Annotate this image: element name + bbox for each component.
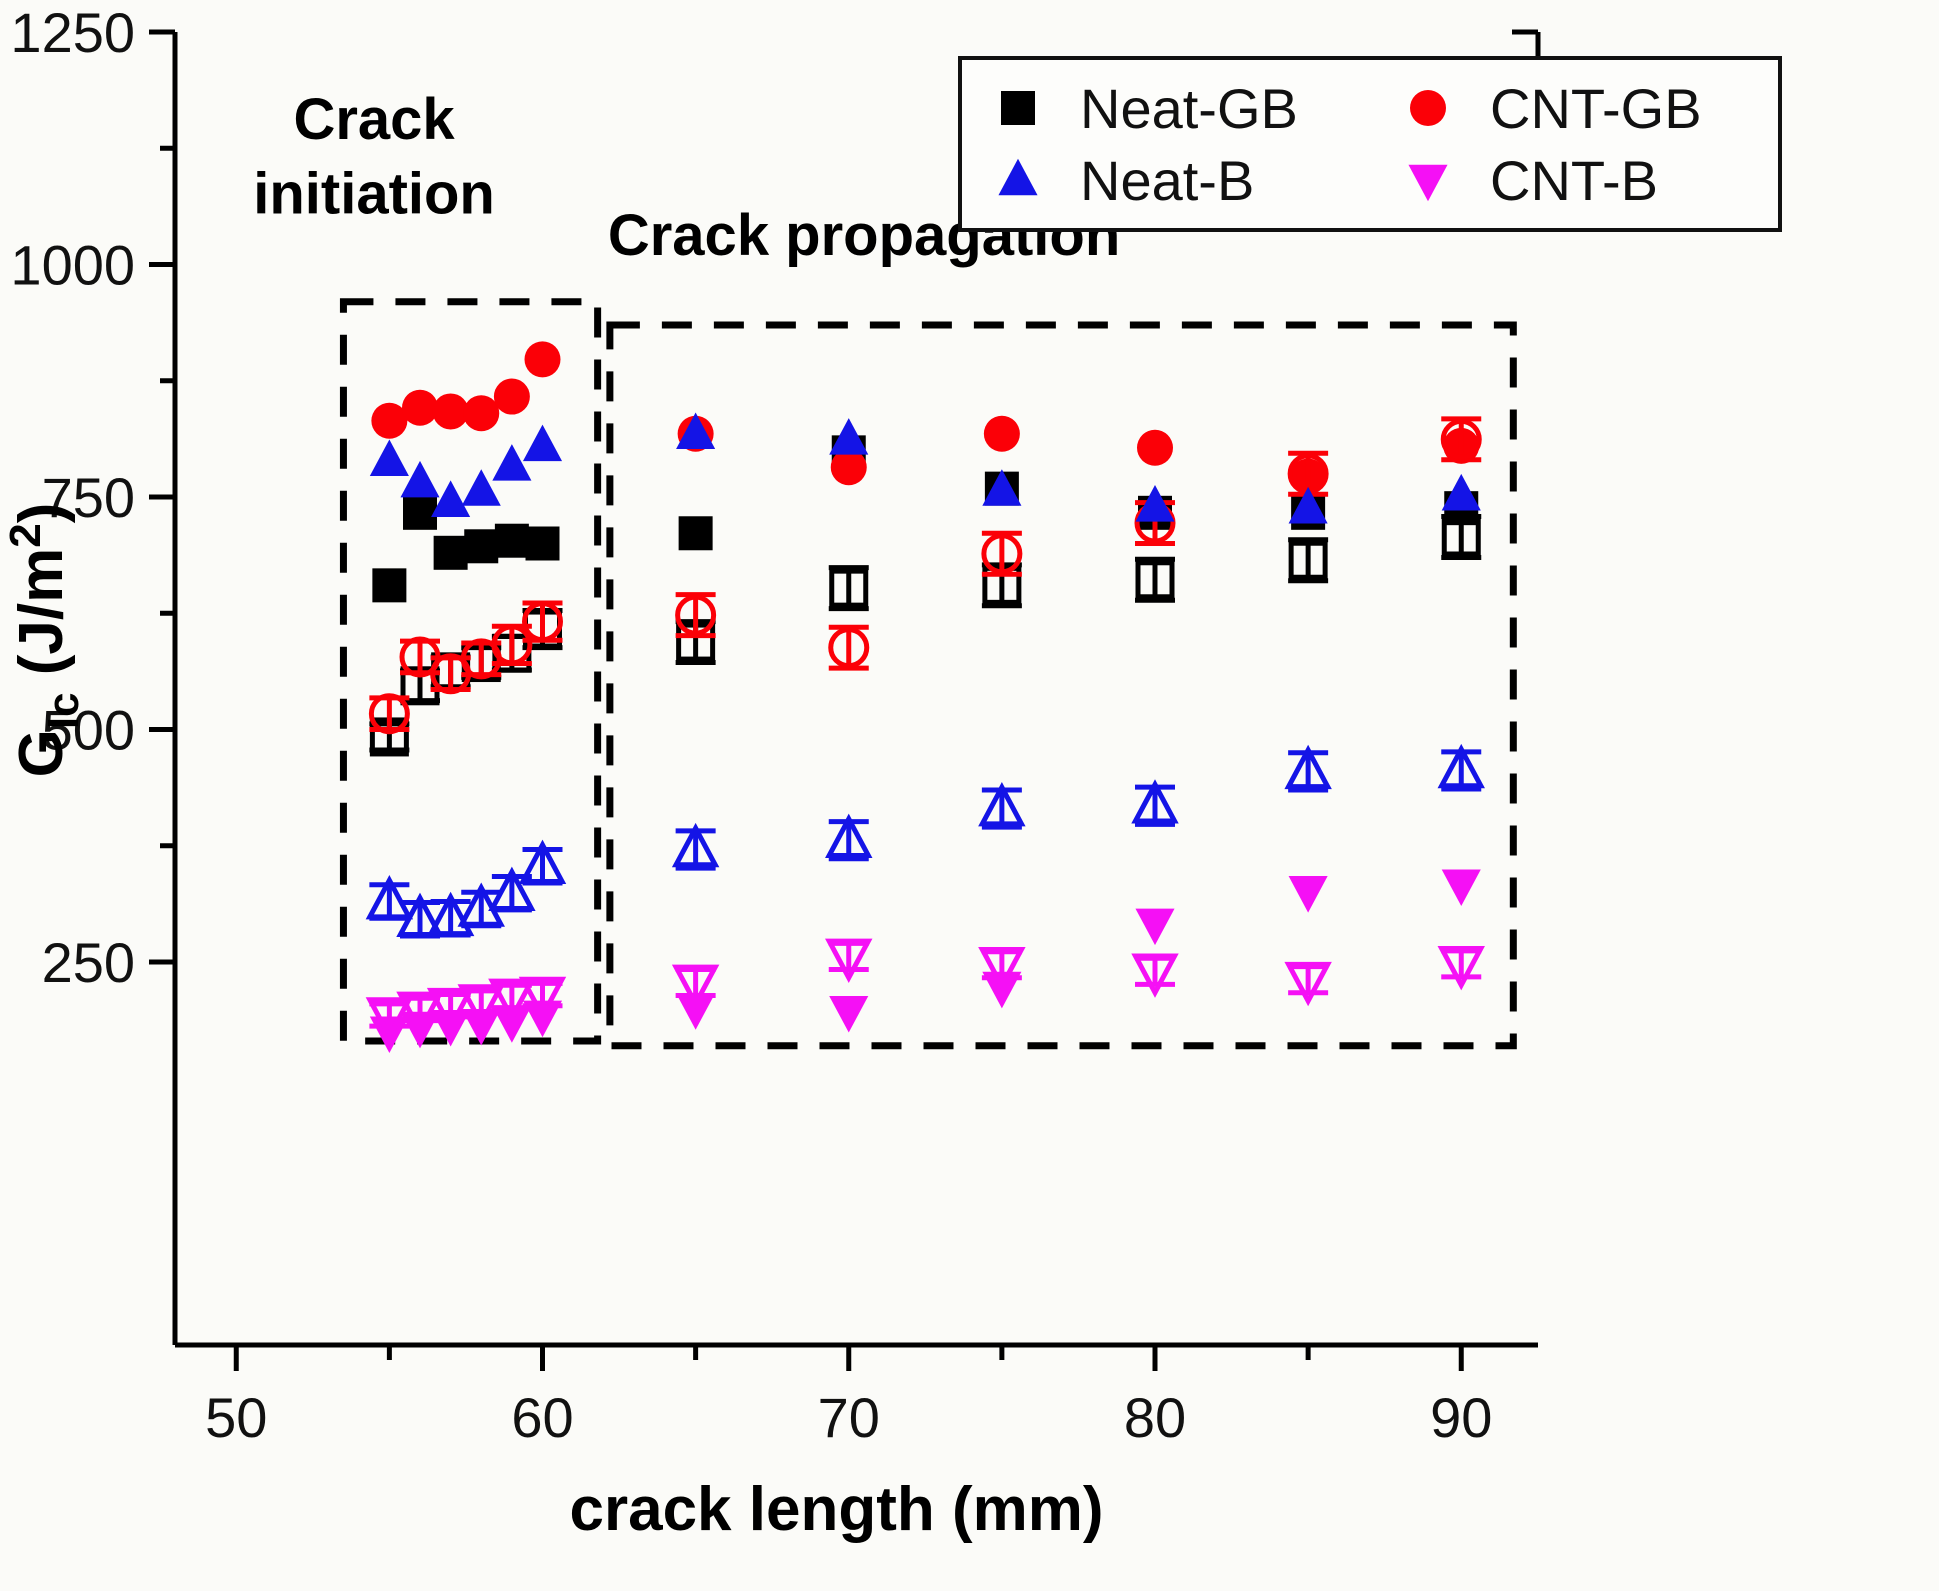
y-axis-title: GIc (J/m2) — [1, 503, 88, 778]
marker-circle — [1137, 430, 1173, 466]
x-tick-label: 50 — [205, 1386, 267, 1449]
marker-triangle-up — [370, 439, 409, 476]
y-tick-label: 1000 — [10, 234, 135, 297]
marker-triangle-down — [1289, 876, 1328, 913]
legend-label: CNT-GB — [1490, 77, 1702, 140]
marker-circle — [371, 403, 407, 439]
y-axis-title-paren: ) — [7, 503, 76, 524]
marker-triangle-down — [829, 996, 868, 1033]
series-cnt-b — [370, 870, 1481, 1053]
series-neat-b-open — [369, 749, 1481, 936]
y-axis-title-superscript: 2 — [1, 523, 50, 547]
marker-circle — [463, 395, 499, 431]
legend-label: CNT-B — [1490, 149, 1658, 212]
x-tick-label: 90 — [1430, 1386, 1492, 1449]
marker-triangle-up — [462, 469, 501, 506]
y-axis-title-symbol: G — [7, 729, 76, 777]
marker-circle — [433, 393, 469, 429]
x-tick-label: 60 — [511, 1386, 573, 1449]
y-axis-title-subscript: Ic — [39, 692, 88, 729]
marker-square — [372, 568, 406, 602]
marker-circle — [525, 341, 561, 377]
marker-square — [679, 516, 713, 550]
x-tick-label: 80 — [1124, 1386, 1186, 1449]
marker-triangle-up — [400, 461, 439, 498]
annotation-text: initiation — [253, 161, 495, 226]
chart-figure: 250500750100012505060708090crack length … — [0, 0, 1939, 1591]
marker-circle — [984, 416, 1020, 452]
marker-triangle-down — [1135, 909, 1174, 946]
y-axis-title-text: GIc (J/m2) — [1, 503, 88, 778]
crack-propagation-box — [610, 325, 1513, 1046]
legend-label: Neat-GB — [1080, 77, 1298, 140]
series-cnt-gb — [371, 341, 1479, 494]
marker-square — [434, 536, 468, 570]
y-axis-title-unit: (J/m — [7, 548, 76, 693]
marker-square — [464, 529, 498, 563]
marker-triangle-up — [523, 425, 562, 462]
marker-square — [495, 524, 529, 558]
marker-circle — [402, 390, 438, 426]
marker-square — [403, 496, 437, 530]
marker-circle — [1410, 90, 1446, 126]
chart-canvas: 250500750100012505060708090crack length … — [0, 0, 1939, 1591]
marker-triangle-up — [492, 444, 531, 481]
y-tick-label: 250 — [42, 931, 135, 994]
marker-square — [1001, 91, 1035, 125]
marker-circle — [494, 379, 530, 415]
marker-triangle-down — [1442, 870, 1481, 907]
marker-square — [526, 527, 560, 561]
legend-label: Neat-B — [1080, 149, 1254, 212]
x-tick-label: 70 — [818, 1386, 880, 1449]
y-tick-label: 1250 — [10, 1, 135, 64]
annotation-text: Crack — [293, 87, 455, 152]
x-axis-title: crack length (mm) — [569, 1475, 1103, 1544]
